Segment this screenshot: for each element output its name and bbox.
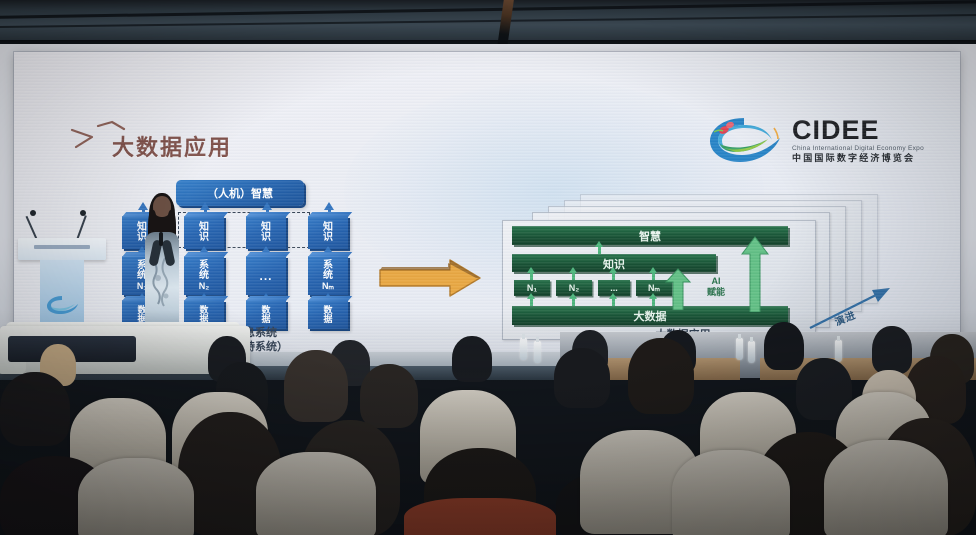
cube-top-face (246, 252, 290, 257)
node-human-machine-wisdom: （人机）智慧 (176, 180, 304, 206)
box-data-3: 数据 (246, 300, 286, 329)
chair-front-4 (672, 450, 790, 535)
transition-arrow-icon (376, 254, 484, 306)
water-bottle-5 (835, 340, 842, 362)
cidee-logo-text: CIDEE China International Digital Econom… (792, 117, 924, 164)
water-bottle-1 (520, 338, 527, 360)
cube-top-face (184, 252, 228, 257)
cidee-logo: CIDEE China International Digital Econom… (704, 114, 924, 166)
box-knowledge-4: 知识 (308, 216, 348, 249)
ai-enable-arrow-short (664, 268, 692, 310)
water-bottle-4 (748, 341, 755, 363)
green-stem-5 (530, 272, 533, 280)
green-up-arrow-6 (569, 267, 577, 273)
green-up-arrow-3 (609, 293, 617, 299)
water-bottle-3 (736, 338, 743, 360)
green-up-arrow-2 (569, 293, 577, 299)
box-knowledge-3: 知识 (246, 216, 286, 249)
right-diagram-bigdata-application: 智慧 知识 N₁ N₂ ... Nₘ 大数据 (488, 192, 888, 352)
green-up-arrow-4 (649, 293, 657, 299)
cidee-emblem-icon (704, 114, 786, 166)
green-stem-3 (612, 298, 615, 306)
microphone-head-right (80, 210, 86, 216)
cidee-acronym: CIDEE (792, 117, 880, 144)
ai-empowerment-label: AI 赋能 (694, 276, 738, 299)
green-up-arrow-7 (609, 267, 617, 273)
cube-top-face (308, 212, 352, 217)
slide-title: 大数据应用 (112, 130, 232, 162)
green-up-arrow-1 (527, 293, 535, 299)
green-stem-4 (652, 298, 655, 306)
cidee-chinese-name: 中国国际数字经济博览会 (792, 154, 915, 163)
chair-front-1 (78, 458, 194, 535)
box-system-m: 系统Nₘ (308, 256, 348, 295)
up-arrow-2 (200, 202, 210, 210)
audience-person-far-7 (872, 326, 912, 374)
presenter-handheld-microphone (159, 232, 163, 246)
audience-person-mid-5 (554, 348, 610, 408)
ai-enable-arrow-tall (740, 236, 770, 312)
microphone-head-left (30, 210, 36, 216)
green-up-arrow-5 (527, 267, 535, 273)
chair-front-5 (824, 440, 948, 535)
cube-top-face (184, 296, 228, 301)
conference-photo-scene: 大数据应用 CIDEE China International Digital … (0, 0, 976, 535)
box-knowledge-2: 知识 (184, 216, 224, 249)
ai-label-line1: AI (694, 276, 738, 287)
up-arrow-4 (324, 202, 334, 210)
green-stem-6 (572, 272, 575, 280)
cube-top-face (184, 212, 228, 217)
green-stem-7 (612, 272, 615, 280)
audience-person-mid-4 (360, 364, 418, 428)
chair-front-2 (256, 452, 376, 535)
cidee-english-name: China International Digital Economy Expo (792, 146, 924, 153)
box-data-4: 数据 (308, 300, 348, 329)
ai-label-line2: 赋能 (694, 287, 738, 298)
green-stem-9 (598, 246, 601, 254)
water-bottle-2 (534, 341, 541, 363)
audience-person-mid-1 (0, 372, 70, 446)
audience-person-far-6 (764, 322, 804, 370)
audience-person-mid-3 (284, 350, 348, 422)
up-arrow-3 (262, 202, 272, 210)
audience-person-mid-6 (628, 338, 694, 414)
green-up-arrow-8 (649, 267, 657, 273)
cube-top-face (246, 296, 290, 301)
box-system-2: 系统N₂ (184, 256, 224, 295)
green-stem-1 (530, 298, 533, 306)
podium-nameplate (34, 245, 90, 249)
green-stem-8 (652, 272, 655, 280)
box-system-ellipsis: ... (246, 256, 286, 295)
podium-top-surface (18, 238, 106, 260)
audience-person-far-3 (452, 336, 492, 382)
cube-top-face (246, 212, 290, 217)
cube-top-face (308, 296, 352, 301)
audience-person-front-3-red-shirt (404, 498, 556, 535)
green-up-arrow-9 (595, 241, 603, 247)
cube-top-face (308, 252, 352, 257)
green-stem-2 (572, 298, 575, 306)
podium-cidee-emblem-icon (44, 294, 80, 316)
